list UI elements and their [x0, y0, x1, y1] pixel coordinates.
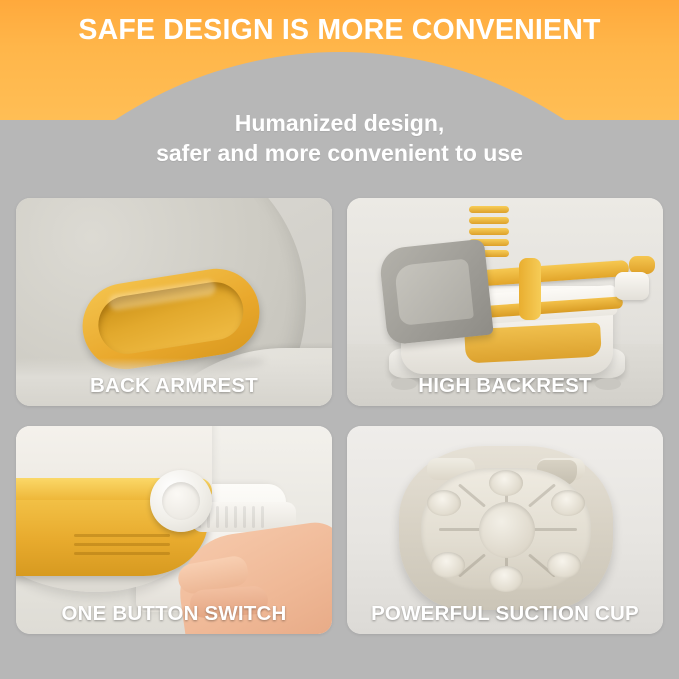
product-infographic: SAFE DESIGN IS MORE CONVENIENT Humanized… — [0, 0, 679, 679]
subtitle-line-1: Humanized design, — [0, 108, 679, 138]
high-backrest-part — [378, 239, 493, 346]
card-label-back-armrest: BACK ARMREST — [16, 374, 332, 398]
suction-cup — [551, 490, 585, 516]
card-label-one-button-switch: ONE BUTTON SWITCH — [16, 602, 332, 626]
page-title: SAFE DESIGN IS MORE CONVENIENT — [0, 14, 679, 47]
suction-cup — [489, 566, 523, 592]
suction-cup — [427, 490, 461, 516]
switch-button — [150, 470, 212, 532]
suction-cup — [431, 552, 465, 578]
subtitle-line-2: safer and more convenient to use — [0, 138, 679, 168]
feature-card-back-armrest: BACK ARMREST — [16, 198, 332, 406]
seat-underside — [399, 446, 613, 610]
suction-cup — [547, 552, 581, 578]
feature-card-powerful-suction-cup: POWERFUL SUCTION CUP — [347, 426, 663, 634]
card-label-high-backrest: HIGH BACKREST — [347, 374, 663, 398]
feature-card-one-button-switch: ONE BUTTON SWITCH — [16, 426, 332, 634]
header-banner: SAFE DESIGN IS MORE CONVENIENT — [0, 0, 679, 120]
feature-card-high-backrest: HIGH BACKREST — [347, 198, 663, 406]
feature-card-grid: BACK ARMREST — [16, 198, 663, 634]
suction-cup — [489, 470, 523, 496]
subtitle: Humanized design, safer and more conveni… — [0, 108, 679, 168]
card-label-powerful-suction-cup: POWERFUL SUCTION CUP — [347, 602, 663, 626]
